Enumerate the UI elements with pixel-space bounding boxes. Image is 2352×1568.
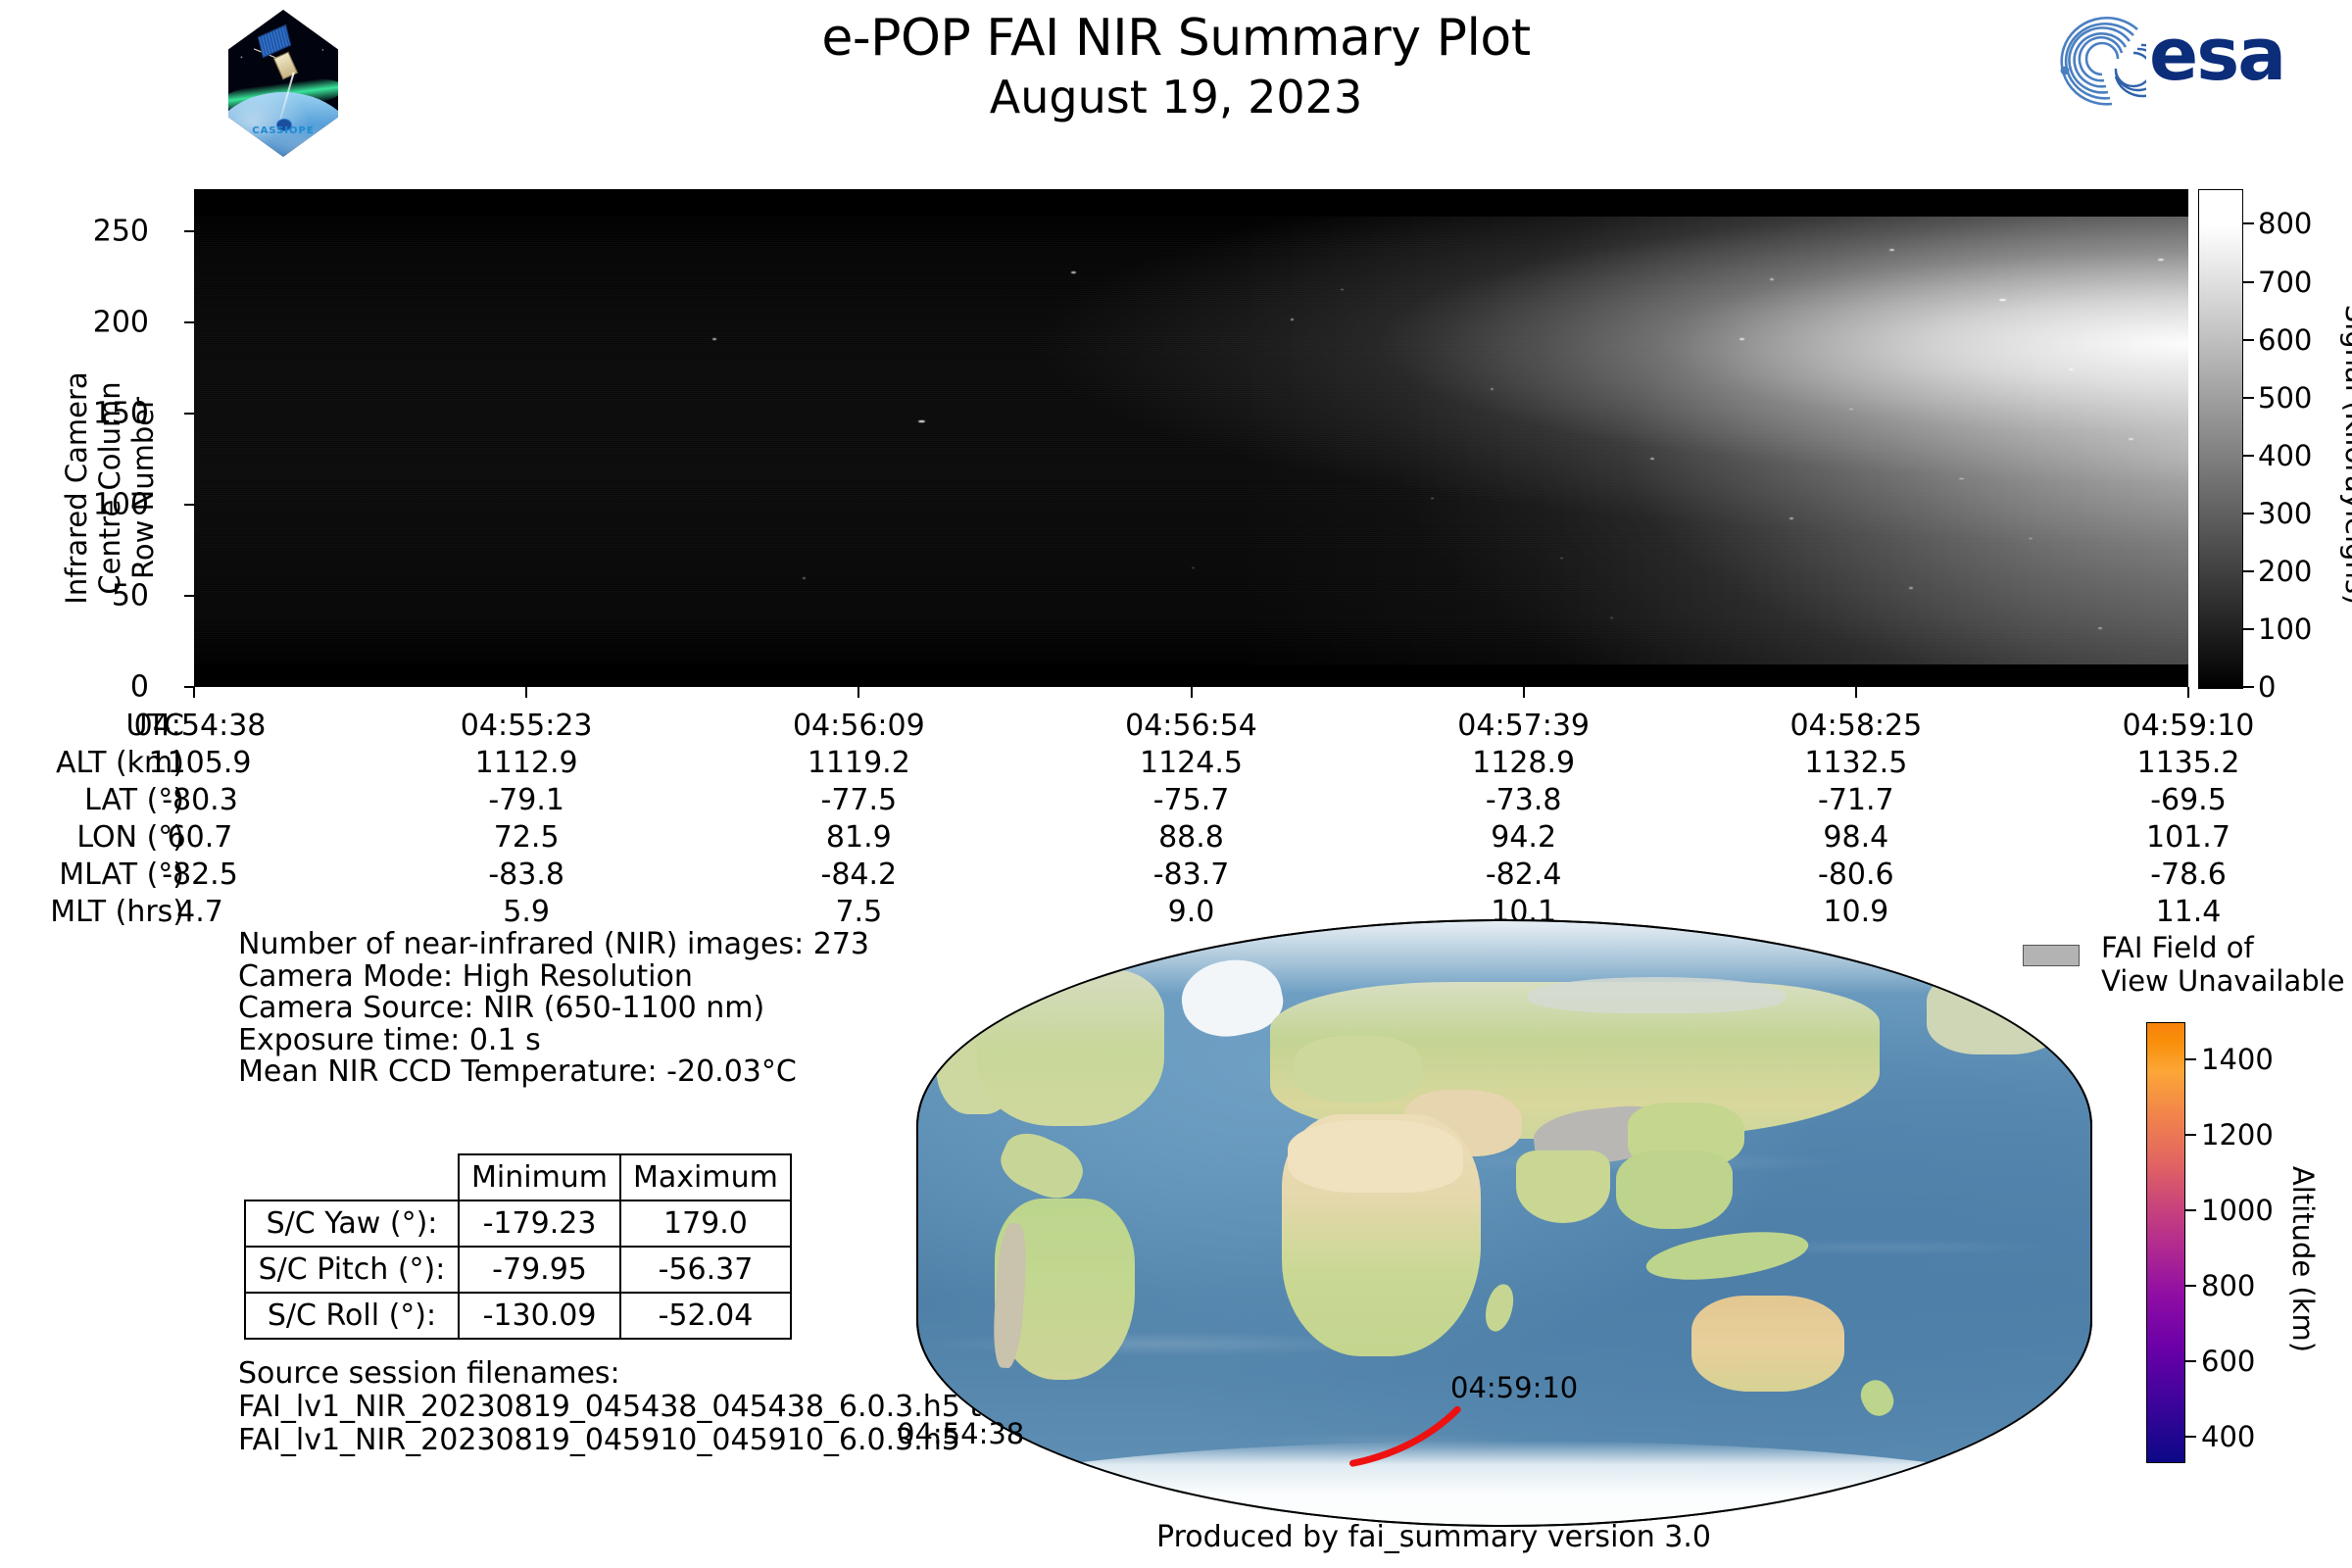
altitude-colorbar <box>2146 1022 2185 1463</box>
altitude-colorbar-tick-label: 1000 <box>2201 1194 2274 1227</box>
ephemeris-cell: -83.8 <box>418 860 634 890</box>
attitude-table-corner <box>245 1154 459 1200</box>
ephemeris-cell: 94.2 <box>1416 823 1632 853</box>
keogram-star-point <box>1999 299 2006 301</box>
map-australia <box>1691 1296 1843 1393</box>
attitude-min-value: -179.23 <box>459 1200 620 1247</box>
ephemeris-cell: 1135.2 <box>2081 749 2296 778</box>
signal-colorbar-tick-mark <box>2243 281 2254 283</box>
keogram-bottom-mask <box>194 664 2188 687</box>
acquisition-info: Number of near-infrared (NIR) images: 27… <box>238 929 869 1089</box>
signal-colorbar-tick-label: 600 <box>2258 323 2312 357</box>
info-line-camera-mode: Camera Mode: High Resolution <box>238 961 869 994</box>
ephemeris-cell: -71.7 <box>1748 786 1964 815</box>
title-main: e-POP FAI NIR Summary Plot <box>0 8 2352 69</box>
signal-colorbar <box>2198 189 2243 689</box>
ephemeris-cell: -79.1 <box>418 786 634 815</box>
ephemeris-cell: 1124.5 <box>1084 749 1299 778</box>
attitude-max-value: -56.37 <box>620 1247 791 1293</box>
fai-fov-legend-text: FAI Field of View Unavailable <box>2101 931 2345 998</box>
keogram-star-point <box>1849 409 1853 411</box>
keogram-y-tick-label: 200 <box>31 305 149 339</box>
signal-colorbar-title: Signal (Kilorayleighs) <box>2339 239 2352 670</box>
ephemeris-cell: -82.4 <box>1416 860 1632 890</box>
attitude-table: Minimum Maximum S/C Yaw (°):-179.23179.0… <box>244 1153 792 1340</box>
attitude-table-body: S/C Yaw (°):-179.23179.0S/C Pitch (°):-7… <box>245 1200 791 1339</box>
ephemeris-cell: 72.5 <box>418 823 634 853</box>
ephemeris-cell: -77.5 <box>751 786 966 815</box>
ephemeris-cell: 04:56:09 <box>751 711 966 741</box>
keogram-star-point <box>1889 249 1894 251</box>
altitude-colorbar-tick-mark <box>2185 1285 2196 1287</box>
ephemeris-cell: 04:58:25 <box>1748 711 1964 741</box>
signal-colorbar-tick-label: 700 <box>2258 266 2312 299</box>
map-europe <box>1294 1036 1423 1102</box>
keogram-x-tick-mark <box>857 687 859 698</box>
ephemeris-row: UTC04:54:3804:55:2304:56:0904:56:5404:57… <box>0 711 2352 741</box>
signal-colorbar-tick-mark <box>2243 570 2254 572</box>
altitude-colorbar-tick-label: 400 <box>2201 1420 2255 1453</box>
signal-colorbar-tick-label: 300 <box>2258 497 2312 530</box>
source-filename-first: FAI_lv1_NIR_20230819_045438_045438_6.0.3… <box>238 1391 1000 1424</box>
cassiope-logo: CASSIOPE <box>228 10 338 157</box>
ephemeris-cell: 98.4 <box>1748 823 1964 853</box>
map-projection-area <box>916 919 2092 1527</box>
signal-colorbar-tick-mark <box>2243 513 2254 514</box>
source-filenames: Source session filenames: FAI_lv1_NIR_20… <box>238 1357 1000 1457</box>
orbit-end-time-label: 04:59:10 <box>1450 1371 1578 1404</box>
altitude-colorbar-tick-label: 1200 <box>2201 1118 2274 1151</box>
altitude-colorbar-tick-mark <box>2185 1058 2196 1060</box>
page-title: e-POP FAI NIR Summary Plot August 19, 20… <box>0 8 2352 125</box>
attitude-min-value: -79.95 <box>459 1247 620 1293</box>
keogram-star-point <box>2098 627 2102 629</box>
info-line-image-count: Number of near-infrared (NIR) images: 27… <box>238 929 869 961</box>
altitude-colorbar-title: Altitude (km) <box>2286 1044 2320 1475</box>
signal-colorbar-tick-mark <box>2243 628 2254 630</box>
keogram-image <box>194 189 2188 687</box>
signal-colorbar-tick-label: 0 <box>2258 670 2276 704</box>
altitude-colorbar-tick-mark <box>2185 1209 2196 1211</box>
attitude-row-label: S/C Pitch (°): <box>245 1247 459 1293</box>
ephemeris-cell: 11.4 <box>2081 898 2296 927</box>
keogram-x-tick-mark <box>1191 687 1193 698</box>
ephemeris-cell: 04:56:54 <box>1084 711 1299 741</box>
keogram-y-tick-mark <box>184 230 194 232</box>
keogram-scanlines <box>194 189 2188 687</box>
attitude-row-label: S/C Yaw (°): <box>245 1200 459 1247</box>
attitude-min-value: -130.09 <box>459 1293 620 1339</box>
ephemeris-cell: 1132.5 <box>1748 749 1964 778</box>
keogram-y-tick-mark <box>184 413 194 415</box>
keogram-star-point <box>2129 438 2133 440</box>
keogram-star-point <box>1789 517 1793 519</box>
ephemeris-cell: 04:54:38 <box>92 711 308 741</box>
keogram-x-tick-mark <box>1855 687 1857 698</box>
signal-colorbar-tick-label: 800 <box>2258 207 2312 240</box>
map-alaska <box>1927 969 2068 1053</box>
world-map[interactable]: 04:54:38 04:59:10 <box>916 919 2092 1527</box>
keogram-star-point <box>1491 388 1494 390</box>
altitude-colorbar-tick-label: 1400 <box>2201 1043 2274 1076</box>
ephemeris-row: ALT (km)1105.91112.91119.21124.51128.911… <box>0 749 2352 778</box>
ephemeris-cell: 1112.9 <box>418 749 634 778</box>
altitude-colorbar-tick-mark <box>2185 1436 2196 1438</box>
keogram-y-tick-label: 250 <box>31 214 149 248</box>
cassiope-logo-text: CASSIOPE <box>228 125 338 136</box>
ephemeris-table: UTC04:54:3804:55:2304:56:0904:56:5404:57… <box>0 711 2352 935</box>
keogram-y-tick-mark <box>184 595 194 597</box>
map-india <box>1516 1151 1610 1223</box>
ephemeris-cell: -75.7 <box>1084 786 1299 815</box>
signal-colorbar-tick-mark <box>2243 339 2254 341</box>
keogram-x-tick-mark <box>525 687 527 698</box>
esa-logo-text: esa <box>2149 16 2284 94</box>
ephemeris-cell: 5.9 <box>418 898 634 927</box>
signal-colorbar-tick-mark <box>2243 686 2254 688</box>
ephemeris-cell: 81.9 <box>751 823 966 853</box>
keogram-top-mask <box>194 189 2188 217</box>
keogram-star-point <box>2069 368 2074 370</box>
keogram-star-point <box>1770 278 1774 280</box>
ephemeris-row: LON (°)60.772.581.988.894.298.4101.7 <box>0 823 2352 853</box>
map-sahara <box>1288 1120 1463 1193</box>
attitude-max-value: 179.0 <box>620 1200 791 1247</box>
title-date: August 19, 2023 <box>0 69 2352 125</box>
signal-colorbar-tick-label: 400 <box>2258 439 2312 472</box>
attitude-table-header-maximum: Maximum <box>620 1154 791 1200</box>
signal-colorbar-tick-mark <box>2243 222 2254 224</box>
info-line-ccd-temperature: Mean NIR CCD Temperature: -20.03°C <box>238 1056 869 1089</box>
keogram-y-tick-label: 100 <box>31 487 149 521</box>
fai-fov-legend-line1: FAI Field of <box>2101 931 2345 964</box>
keogram-x-tick-mark <box>1523 687 1525 698</box>
orbit-start-time-label: 04:54:38 <box>897 1417 1024 1450</box>
map-southeast-asia <box>1616 1151 1734 1229</box>
keogram-star-point <box>1291 318 1294 320</box>
attitude-table-row: S/C Pitch (°):-79.95-56.37 <box>245 1247 791 1293</box>
ephemeris-cell: 1119.2 <box>751 749 966 778</box>
ephemeris-cell: -84.2 <box>751 860 966 890</box>
ephemeris-cell: 1128.9 <box>1416 749 1632 778</box>
ephemeris-cell: 60.7 <box>92 823 308 853</box>
footer-credit: Produced by fai_summary version 3.0 <box>1156 1520 1711 1554</box>
keogram-x-tick-mark <box>2187 687 2189 698</box>
keogram-y-tick-mark <box>184 504 194 506</box>
esa-swirl-icon <box>2043 16 2146 110</box>
altitude-colorbar-tick-label: 800 <box>2201 1269 2255 1302</box>
altitude-colorbar-tick-mark <box>2185 1134 2196 1136</box>
ephemeris-cell: -73.8 <box>1416 786 1632 815</box>
ephemeris-cell: -69.5 <box>2081 786 2296 815</box>
source-filenames-heading: Source session filenames: <box>238 1357 1000 1391</box>
attitude-max-value: -52.04 <box>620 1293 791 1339</box>
ephemeris-row: MLAT (°)-82.5-83.8-84.2-83.7-82.4-80.6-7… <box>0 860 2352 890</box>
keogram-y-tick-label: 150 <box>31 396 149 430</box>
ephemeris-cell: -80.6 <box>1748 860 1964 890</box>
signal-colorbar-tick-label: 100 <box>2258 612 2312 646</box>
ephemeris-cell: -80.3 <box>92 786 308 815</box>
fai-fov-legend-line2: View Unavailable <box>2101 964 2345 998</box>
ephemeris-cell: 04:55:23 <box>418 711 634 741</box>
keogram-plot[interactable] <box>194 189 2188 687</box>
ephemeris-cell: -78.6 <box>2081 860 2296 890</box>
esa-logo: esa <box>2043 14 2308 112</box>
attitude-table-row: S/C Roll (°):-130.09-52.04 <box>245 1293 791 1339</box>
keogram-star-point <box>1909 587 1913 589</box>
source-filename-last: FAI_lv1_NIR_20230819_045910_045910_6.0.3… <box>238 1424 1000 1457</box>
ephemeris-row: LAT (°)-80.3-79.1-77.5-75.7-73.8-71.7-69… <box>0 786 2352 815</box>
cassiope-logo-art: CASSIOPE <box>228 10 338 157</box>
ephemeris-cell: 4.7 <box>92 898 308 927</box>
altitude-colorbar-tick-mark <box>2185 1360 2196 1362</box>
keogram-star-point <box>1650 458 1654 460</box>
ephemeris-cell: 04:57:39 <box>1416 711 1632 741</box>
attitude-table-row: S/C Yaw (°):-179.23179.0 <box>245 1200 791 1247</box>
attitude-row-label: S/C Roll (°): <box>245 1293 459 1339</box>
altitude-colorbar-tick-label: 600 <box>2201 1345 2255 1378</box>
attitude-table-header-minimum: Minimum <box>459 1154 620 1200</box>
ephemeris-cell: -83.7 <box>1084 860 1299 890</box>
signal-colorbar-tick-mark <box>2243 455 2254 457</box>
keogram-x-tick-mark <box>193 687 195 698</box>
ephemeris-cell: 1105.9 <box>92 749 308 778</box>
ephemeris-cell: 88.8 <box>1084 823 1299 853</box>
attitude-table-header-row: Minimum Maximum <box>245 1154 791 1200</box>
map-north-america <box>977 969 1164 1126</box>
map-siberia-tundra <box>1528 977 1786 1013</box>
info-line-exposure-time: Exposure time: 0.1 s <box>238 1025 869 1057</box>
signal-colorbar-tick-mark <box>2243 397 2254 399</box>
ephemeris-cell: -82.5 <box>92 860 308 890</box>
keogram-y-tick-label: 0 <box>31 670 149 705</box>
keogram-y-tick-label: 50 <box>31 578 149 612</box>
keogram-star-point <box>1071 271 1076 273</box>
signal-colorbar-tick-label: 200 <box>2258 555 2312 588</box>
keogram-star-point <box>803 577 806 578</box>
info-line-camera-source: Camera Source: NIR (650-1100 nm) <box>238 993 869 1025</box>
keogram-y-tick-mark <box>184 321 194 323</box>
ephemeris-cell: 04:59:10 <box>2081 711 2296 741</box>
fai-fov-legend-swatch <box>2023 945 2080 966</box>
signal-colorbar-tick-label: 500 <box>2258 381 2312 415</box>
ephemeris-cell: 101.7 <box>2081 823 2296 853</box>
